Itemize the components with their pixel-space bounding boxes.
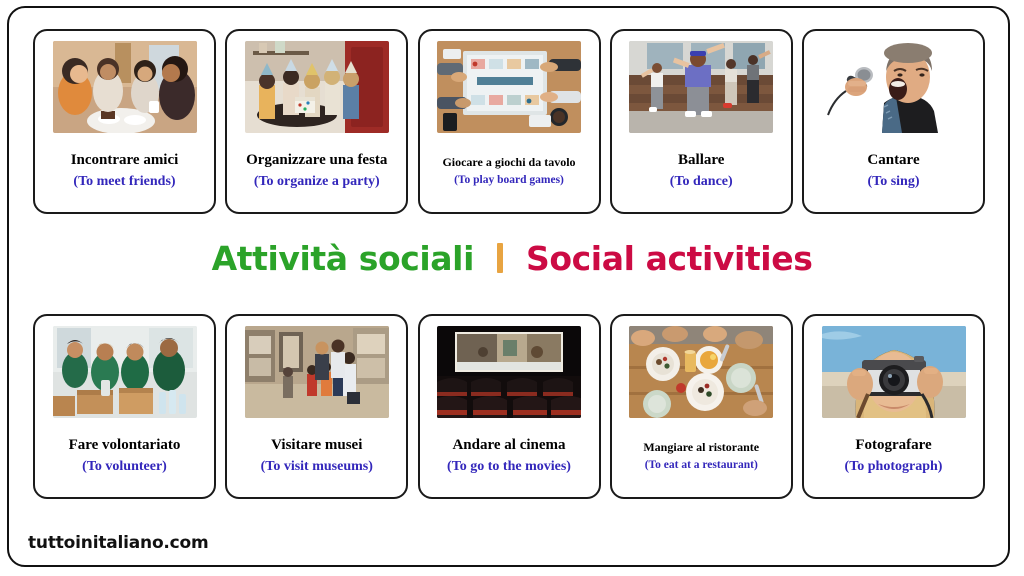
card-incontrare-amici[interactable]: Incontrare amici (To meet friends) [33, 29, 216, 214]
card-labels: Visitare musei (To visit museums) [227, 418, 406, 497]
cinema-screen-seats-photo [437, 326, 581, 418]
card-organizzare-una-festa[interactable]: Organizzare una festa (To organize a par… [225, 29, 408, 214]
italian-label: Visitare musei [271, 436, 362, 455]
card-labels: Andare al cinema (To go to the movies) [420, 418, 599, 497]
card-visitare-musei[interactable]: Visitare musei (To visit museums) [225, 314, 408, 499]
card-fotografare[interactable]: Fotografare (To photograph) [802, 314, 985, 499]
english-label: (To meet friends) [73, 172, 175, 191]
card-giocare-a-giochi-da-tavolo[interactable]: Giocare a giochi da tavolo (To play boar… [418, 29, 601, 214]
top-row: Incontrare amici (To meet friends) [33, 29, 985, 214]
street-dancers-photo [629, 41, 773, 133]
title-italian: Attività sociali [212, 239, 474, 278]
italian-label: Organizzare una festa [246, 151, 387, 170]
woman-with-camera-photo [822, 326, 966, 418]
card-labels: Fare volontariato (To volunteer) [35, 418, 214, 497]
english-label: (To dance) [670, 172, 733, 191]
italian-label: Incontrare amici [71, 151, 179, 170]
english-label: (To organize a party) [254, 172, 380, 191]
card-labels: Mangiare al ristorante (To eat at a rest… [612, 418, 791, 497]
english-label: (To eat at a restaurant) [645, 457, 758, 473]
title-separator [497, 243, 503, 273]
card-labels: Cantare (To sing) [804, 133, 983, 212]
italian-label: Mangiare al ristorante [643, 439, 759, 455]
card-fare-volontariato[interactable]: Fare volontariato (To volunteer) [33, 314, 216, 499]
italian-label: Andare al cinema [452, 436, 565, 455]
card-labels: Giocare a giochi da tavolo (To play boar… [420, 133, 599, 212]
section-title: Attività sociali Social activities [0, 232, 1024, 284]
flashcard-poster: Incontrare amici (To meet friends) [0, 0, 1024, 576]
friends-at-cafe-photo [53, 41, 197, 133]
bottom-row: Fare volontariato (To volunteer) [33, 314, 985, 499]
card-ballare[interactable]: Ballare (To dance) [610, 29, 793, 214]
card-cantare[interactable]: Cantare (To sing) [802, 29, 985, 214]
restaurant-table-food-photo [629, 326, 773, 418]
title-english: Social activities [526, 239, 812, 278]
english-label: (To sing) [867, 172, 919, 191]
card-labels: Incontrare amici (To meet friends) [35, 133, 214, 212]
boy-singing-microphone-photo [822, 41, 966, 133]
board-game-table-photo [437, 41, 581, 133]
card-labels: Fotografare (To photograph) [804, 418, 983, 497]
kids-birthday-party-photo [245, 41, 389, 133]
italian-label: Fotografare [855, 436, 931, 455]
english-label: (To visit museums) [261, 457, 373, 476]
english-label: (To play board games) [454, 172, 564, 188]
card-mangiare-al-ristorante[interactable]: Mangiare al ristorante (To eat at a rest… [610, 314, 793, 499]
english-label: (To photograph) [845, 457, 943, 476]
card-andare-al-cinema[interactable]: Andare al cinema (To go to the movies) [418, 314, 601, 499]
italian-label: Cantare [867, 151, 919, 170]
english-label: (To volunteer) [82, 457, 167, 476]
italian-label: Fare volontariato [69, 436, 181, 455]
museum-visitors-photo [245, 326, 389, 418]
card-labels: Ballare (To dance) [612, 133, 791, 212]
italian-label: Ballare [678, 151, 724, 170]
site-footer: tuttoinitaliano.com [28, 533, 209, 553]
volunteers-packing-boxes-photo [53, 326, 197, 418]
card-labels: Organizzare una festa (To organize a par… [227, 133, 406, 212]
english-label: (To go to the movies) [447, 457, 571, 476]
italian-label: Giocare a giochi da tavolo [442, 154, 575, 170]
